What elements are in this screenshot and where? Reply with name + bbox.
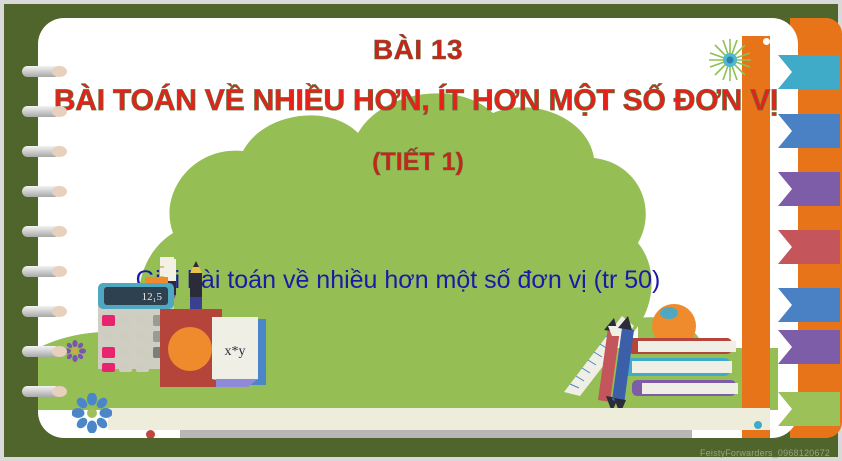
ribbon-tab-red[interactable] [778,230,840,264]
binder-ring [22,226,68,237]
binder-ring [22,386,68,397]
binder-ring [22,346,68,357]
flower-blue-large-icon [72,393,112,433]
binder-ring [22,146,68,157]
calculator-display-value: 12₁5 [142,291,163,303]
binder-ring [22,106,68,117]
slide-main-title: BÀI TOÁN VỀ NHIỀU HƠN, ÍT HƠN MỘT SỐ ĐƠN… [38,84,798,118]
slide-canvas: BÀI 13 BÀI TOÁN VỀ NHIỀU HƠN, ÍT HƠN MỘT… [0,0,842,461]
notebook-page: BÀI 13 BÀI TOÁN VỀ NHIỀU HƠN, ÍT HƠN MỘT… [38,18,798,438]
dot-white-decoration [763,38,770,45]
watermark-text: FeistyForwarders_0968120672 [700,448,830,458]
binder-ring [22,306,68,317]
binder-ring [22,186,68,197]
desk-surface [108,408,770,430]
notebook-label-text: x*y [225,344,246,359]
desk-shadow-upper [180,430,692,438]
ribbon-tab-teal[interactable] [778,55,840,89]
ribbon-tab-purple-1[interactable] [778,172,840,206]
ribbon-tab-purple-2[interactable] [778,330,840,364]
binder-ring [22,266,68,277]
ribbon-tab-green[interactable] [778,392,840,426]
school-supplies-right-illustration [546,296,746,416]
school-supplies-left-illustration: 12₁5 [98,253,298,403]
period-subheading: (TIẾT 1) [38,148,798,177]
binder-ring [22,66,68,77]
dot-teal-decoration [754,421,762,429]
lesson-number-heading: BÀI 13 [38,34,798,66]
ribbon-tab-blue-2[interactable] [778,288,840,322]
sunburst-icon [706,36,754,84]
dot-red-decoration [146,430,155,438]
ribbon-tab-blue-1[interactable] [778,114,840,148]
